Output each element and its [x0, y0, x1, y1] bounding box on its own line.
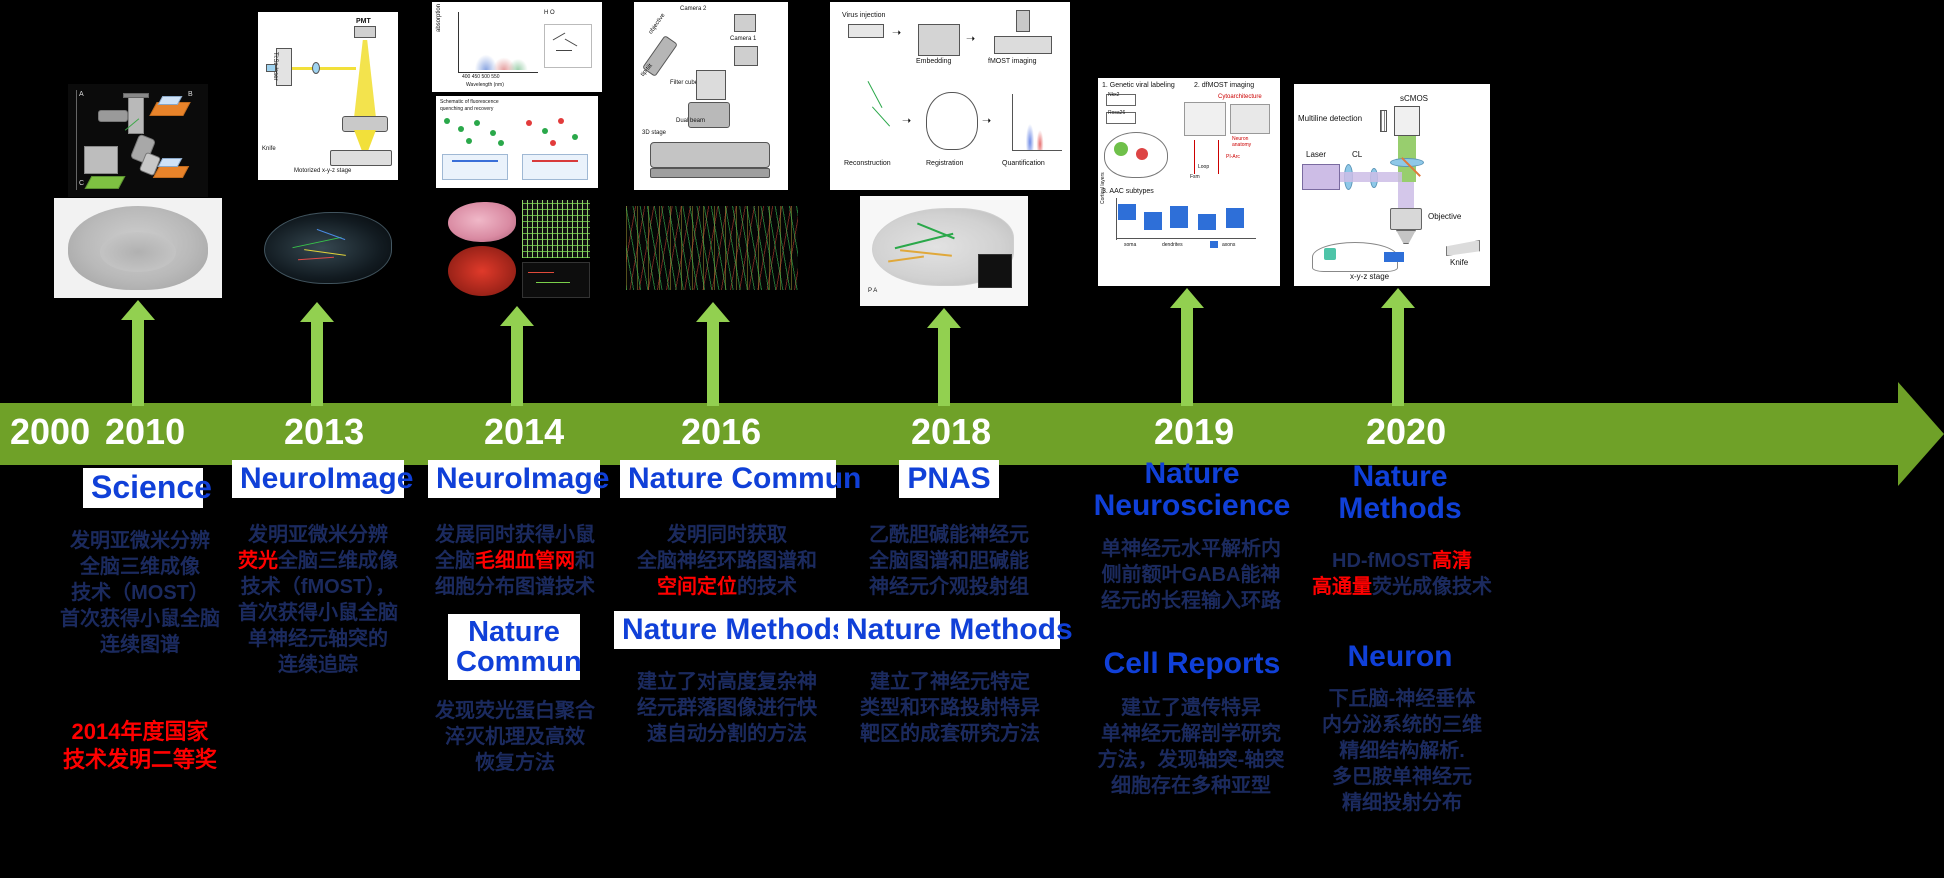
journal-label-nature-methods-2016: Nature Methods — [614, 611, 840, 649]
journal-label-nature-commun-2016: Nature Commun — [620, 460, 836, 498]
timeline-tick-2013 — [300, 302, 334, 403]
timeline-tick-2020 — [1381, 288, 1415, 403]
description2-2020: 下丘脑-神经垂体 内分泌系统的三维 精细结构解析. 多巴胺单神经元 精细投射分布 — [1296, 686, 1508, 816]
timeline-tick-2014 — [500, 306, 534, 403]
journal-label-neuron: Neuron — [1300, 638, 1500, 676]
timeline-year-2013: 2013 — [284, 411, 364, 453]
journal-label-nature-commun-2014: Nature Commun — [448, 614, 580, 680]
panel-most-microscope-schematic: A B C — [68, 84, 208, 197]
panel-genetic-labeling-and-aac-subtypes-figure: 1. Genetic viral labeling 2. dfMOST imag… — [1098, 78, 1280, 286]
timeline-year-2014: 2014 — [484, 411, 564, 453]
timeline-tick-2019 — [1170, 288, 1204, 403]
panel-cortical-neuron-population-render — [616, 196, 808, 300]
journal-label-nature-methods-2020: Nature Methods — [1300, 458, 1500, 528]
timeline-year-2019: 2019 — [1154, 411, 1234, 453]
panel-mouse-brain-coronal-slice — [54, 198, 222, 298]
journal-label-nature-neuroscience: Nature Neuroscience — [1084, 455, 1300, 525]
journal-label-science: Science — [83, 468, 203, 508]
timeline-year-2016: 2016 — [681, 411, 761, 453]
panel-fluorescence-emission-spectra-plot: absorption 400 450 500 550 Wavelength (n… — [432, 2, 602, 92]
description-2013: 发明亚微米分辨 荧光全脑三维成像 技术（fMOST）， 首次获得小鼠全脑 单神经… — [228, 522, 408, 678]
description2-2018: 建立了神经元特定 类型和环路投射特异 靶区的成套研究方法 — [844, 669, 1056, 747]
award-2010: 2014年度国家 技术发明二等奖 — [40, 718, 240, 774]
description2-2016: 建立了对高度复杂神 经元群落图像进行快 速自动分割的方法 — [612, 669, 842, 747]
timeline-tick-2018 — [927, 308, 961, 403]
description-2020: HD-fMOST高清 高通量荧光成像技术 — [1296, 548, 1508, 600]
panel-hd-fmost-optical-schematic: sCMOS Multiline detection Laser CL Objec… — [1294, 84, 1490, 286]
panel-cholinergic-projectome-brain-render: P A — [860, 196, 1028, 306]
description-2016: 发明同时获取 全脑神经环路图谱和 空间定位的技术 — [612, 522, 842, 600]
panel-fluorophore-quenching-diagram: Schematic of fluorescence quenching and … — [436, 96, 598, 188]
panel-fmost-pipeline-flowchart: Virus injection ➝ Embedding ➝ fMOST imag… — [830, 2, 1070, 190]
journal-label-neuroimage-2013: NeuroImage — [232, 460, 404, 498]
description-2018: 乙酰胆碱能神经元 全脑图谱和胆碱能 神经元介观投射组 — [844, 522, 1054, 600]
description2-2014: 发现荧光蛋白聚合 淬灭机理及高效 恢复方法 — [424, 698, 606, 776]
timeline-arrowhead — [1898, 382, 1944, 486]
panel-fmost-optical-path-schematic: PMT Ti:Sa laser Knife Motorized x-y-z st… — [258, 12, 398, 180]
journal-label-cell-reports: Cell Reports — [1084, 645, 1300, 683]
timeline-infographic: A B C PMT Ti:Sa laser Knife Motorized x-… — [0, 0, 1944, 878]
description-2019: 单神经元水平解析内 侧前额叶GABA能神 经元的长程输入环路 — [1080, 536, 1302, 614]
panel-dual-camera-imaging-system-photo: Camera 2 Camera 1 objective tip-tilt Fil… — [634, 2, 788, 190]
panel-brain-vasculature-cytoarchitecture-render — [440, 196, 596, 304]
timeline-year-2018: 2018 — [911, 411, 991, 453]
journal-label-neuroimage-2014: NeuroImage — [428, 460, 600, 498]
timeline-year-2020: 2020 — [1366, 411, 1446, 453]
journal-label-pnas: PNAS — [899, 460, 999, 498]
description-2010: 发明亚微米分辨 全脑三维成像 技术（MOST） 首次获得小鼠全脑 连续图谱 — [40, 528, 240, 658]
timeline-year-2010: 2010 — [105, 411, 185, 453]
timeline-tick-2010 — [121, 300, 155, 403]
description-2014: 发展同时获得小鼠 全脑毛细血管网和 细胞分布图谱技术 — [424, 522, 606, 600]
timeline-year-2000: 2000 — [10, 411, 90, 453]
timeline-tick-2016 — [696, 302, 730, 403]
journal-label-nature-methods-2018: Nature Methods — [838, 611, 1060, 649]
description2-2019: 建立了遗传特异 单神经元解剖学研究 方法，发现轴突-轴突 细胞存在多种亚型 — [1080, 695, 1302, 799]
panel-whole-brain-neuron-reconstruction — [252, 196, 404, 300]
